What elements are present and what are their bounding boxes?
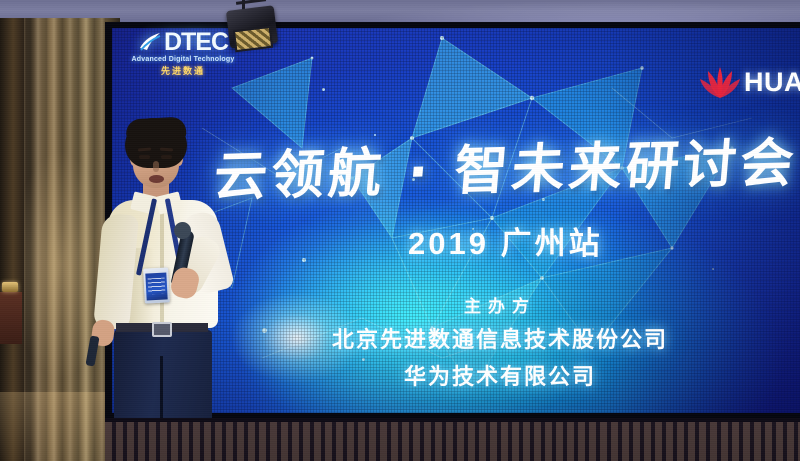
dtec-tagline: Advanced Digital Technology: [118, 56, 248, 63]
huawei-flower-icon: [700, 65, 740, 99]
stage-base-slats: [105, 422, 800, 461]
door-panel: [0, 292, 22, 344]
spotlight-lens: [233, 26, 273, 52]
speaker-trousers: [114, 330, 212, 430]
speaker-eye-right: [161, 155, 172, 159]
conference-photo-scene: DTEC Advanced Digital Technology 先进数通 HU…: [0, 0, 800, 461]
speaker: [86, 118, 266, 428]
stage-base: [105, 418, 800, 461]
event-subtitle: 2019 广州站: [408, 218, 603, 263]
shirt-placket: [160, 210, 164, 322]
host-organization-1: 北京先进数通信息技术股份公司: [255, 322, 745, 354]
host-label: 主办方: [255, 292, 745, 317]
speaker-mouth: [149, 175, 164, 183]
event-title: 云领航 · 智未来研讨会: [211, 121, 793, 211]
badge-text-lines: [148, 278, 166, 295]
door-handle: [2, 282, 18, 292]
stage-spotlight-fixture: [218, 0, 290, 56]
huawei-wordmark: HUA: [744, 67, 800, 98]
huawei-logo: HUA: [700, 62, 800, 102]
host-block: 主办方 北京先进数通信息技术股份公司 华为技术有限公司: [255, 292, 745, 391]
speaker-nose: [153, 161, 159, 172]
dtec-swoosh-icon: [138, 32, 162, 54]
presenter-remote: [85, 335, 99, 366]
host-organization-2: 华为技术有限公司: [255, 359, 745, 391]
belt-buckle: [152, 322, 172, 337]
speaker-eye-left: [139, 155, 150, 159]
dtec-chinese-name: 先进数通: [118, 64, 248, 77]
speaker-hair-fringe: [125, 116, 186, 141]
spotlight-arm: [236, 0, 266, 5]
